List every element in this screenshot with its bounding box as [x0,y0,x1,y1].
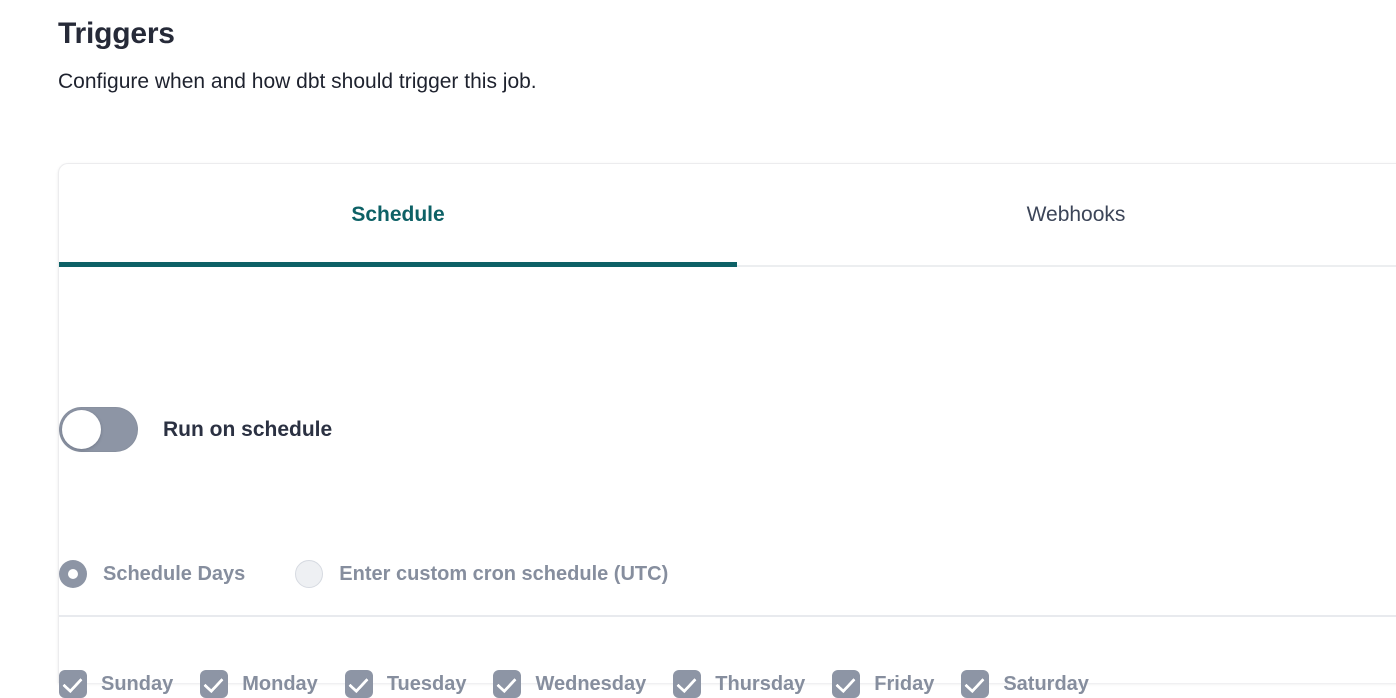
tab-active-underline [59,262,737,267]
tab-bar: Schedule Webhooks [59,164,1396,267]
schedule-days-checkbox-group: Sunday Monday Tuesday Wednesday Thursday [59,670,1089,698]
day-label-friday: Friday [874,673,934,696]
day-label-wednesday: Wednesday [535,673,646,696]
tab-schedule-label: Schedule [351,201,444,229]
radio-unselected-icon [295,560,323,588]
page-title: Triggers [58,14,1358,54]
day-option-wednesday[interactable]: Wednesday [493,670,646,698]
checkbox-checked-icon [59,670,87,698]
run-on-schedule-toggle[interactable] [59,407,138,452]
day-label-thursday: Thursday [715,673,805,696]
day-option-monday[interactable]: Monday [200,670,318,698]
run-on-schedule-label: Run on schedule [163,418,332,442]
day-option-thursday[interactable]: Thursday [673,670,805,698]
run-on-schedule-row: Run on schedule [59,407,332,452]
checkbox-checked-icon [673,670,701,698]
day-label-saturday: Saturday [1003,673,1089,696]
day-option-sunday[interactable]: Sunday [59,670,173,698]
day-option-tuesday[interactable]: Tuesday [345,670,467,698]
day-label-monday: Monday [242,673,318,696]
day-label-tuesday: Tuesday [387,673,467,696]
radio-option-schedule-days[interactable]: Schedule Days [59,560,245,588]
checkbox-checked-icon [200,670,228,698]
radio-label-schedule-days: Schedule Days [103,563,245,586]
checkbox-checked-icon [961,670,989,698]
day-option-saturday[interactable]: Saturday [961,670,1089,698]
triggers-page: Triggers Configure when and how dbt shou… [0,0,1396,680]
triggers-card: Schedule Webhooks Run on schedule Schedu… [58,163,1396,683]
page-subtitle: Configure when and how dbt should trigge… [58,54,1358,96]
checkbox-checked-icon [493,670,521,698]
radio-option-custom-cron[interactable]: Enter custom cron schedule (UTC) [295,560,668,588]
checkbox-checked-icon [832,670,860,698]
day-label-sunday: Sunday [101,673,173,696]
toggle-knob-icon [62,410,101,449]
tab-webhooks[interactable]: Webhooks [737,164,1396,265]
tab-schedule[interactable]: Schedule [59,164,737,265]
checkbox-checked-icon [345,670,373,698]
tab-webhooks-label: Webhooks [1027,201,1126,229]
radio-selected-icon [59,560,87,588]
page-header: Triggers Configure when and how dbt shou… [58,14,1358,96]
day-option-friday[interactable]: Friday [832,670,934,698]
schedule-type-radio-group: Schedule Days Enter custom cron schedule… [59,560,668,588]
section-divider [59,615,1396,617]
radio-label-custom-cron: Enter custom cron schedule (UTC) [339,563,668,586]
